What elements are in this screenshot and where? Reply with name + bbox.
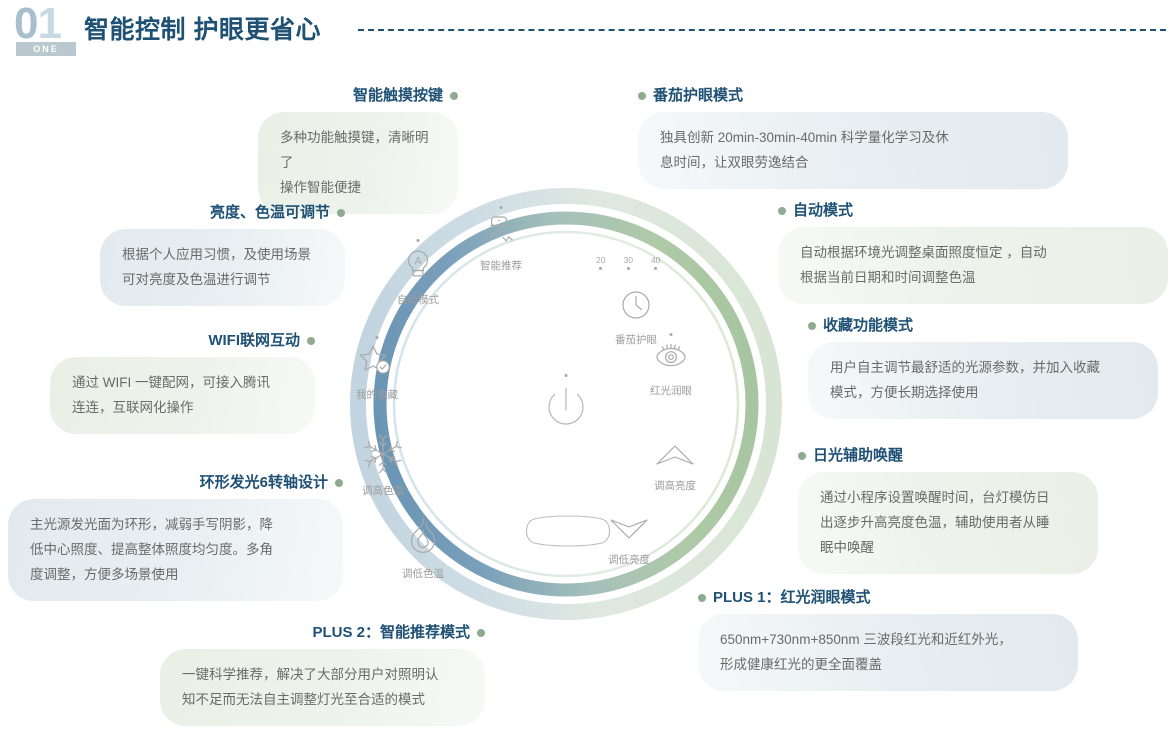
chevron-up-icon [654, 442, 696, 473]
callout-title-row: 自动模式 [778, 203, 1168, 218]
callout-title: 番茄护眼模式 [653, 88, 743, 103]
pomodoro-duration-ticks: 20 30 40 [596, 256, 660, 270]
bullet-dot-icon [808, 322, 816, 330]
callout-body: 主光源发光面为环形，减弱手写阴影，降 低中心照度、提高整体照度均匀度。多角 度调… [8, 499, 343, 601]
page-header: 01 ONE 智能控制 护眼更省心 [0, 0, 1175, 62]
callout-title-row: 智能触摸按键 [258, 88, 458, 103]
callout-title: 自动模式 [793, 203, 853, 218]
slide-canvas: 01 ONE 智能控制 护眼更省心 [0, 0, 1175, 738]
callout-pomodoro-eyecare-mode: 番茄护眼模式 独具创新 20min-30min-40min 科学量化学习及休 息… [638, 88, 1068, 189]
power-button[interactable] [536, 382, 596, 443]
control-auto-mode[interactable]: A 自动模式 [397, 246, 439, 307]
control-pomodoro-eyecare[interactable]: 番茄护眼 [615, 288, 657, 347]
callout-title: 日光辅助唤醒 [813, 448, 903, 463]
bullet-dot-icon [335, 479, 343, 487]
callout-title-row: 番茄护眼模式 [638, 88, 1068, 103]
callout-title: WIFI联网互动 [208, 333, 300, 348]
flame-icon [404, 516, 442, 561]
callout-title: 智能触摸按键 [353, 88, 443, 103]
bullet-dot-icon [638, 92, 646, 100]
callout-title-row: 亮度、色温可调节 [100, 205, 345, 220]
snowflake-icon [364, 435, 402, 478]
logo-subtitle-text: ONE [33, 44, 59, 54]
callout-body: 根据个人应用习惯，及使用场景 可对亮度及色温进行调节 [100, 229, 345, 306]
control-label: 红光润眼 [650, 383, 692, 398]
power-icon [536, 382, 596, 443]
callout-body: 多种功能触摸键，清晰明了 操作智能便捷 [258, 112, 458, 214]
callout-title-row: 收藏功能模式 [808, 318, 1158, 333]
bullet-dot-icon [307, 337, 315, 345]
callout-ring-light-6axis: 环形发光6转轴设计 主光源发光面为环形，减弱手写阴影，降 低中心照度、提高整体照… [8, 475, 343, 601]
control-label: 调低色温 [402, 566, 444, 581]
control-color-temp-down[interactable]: 调低色温 [402, 516, 444, 581]
logo-subtitle-bar: ONE [16, 42, 76, 56]
control-red-light-eyecare[interactable]: 红光润眼 [650, 341, 692, 398]
callout-title-row: PLUS 1：红光润眼模式 [698, 590, 1078, 605]
control-color-temp-up[interactable]: 调高色温 [362, 435, 404, 498]
control-my-favorites[interactable]: 我的收藏 [356, 343, 398, 402]
bullet-dot-icon [477, 629, 485, 637]
tick-label: 40 [651, 256, 660, 265]
bulb-a-icon: A [400, 246, 436, 287]
callout-title: PLUS 2：智能推荐模式 [312, 625, 470, 640]
callout-title: 环形发光6转轴设计 [200, 475, 328, 490]
bullet-dot-icon [778, 207, 786, 215]
svg-text:A: A [414, 256, 422, 268]
callout-plus1-red-light-mode: PLUS 1：红光润眼模式 650nm+730nm+850nm 三波段红光和近红… [698, 590, 1078, 691]
tick-dot [654, 267, 657, 270]
control-brightness-up[interactable]: 调高亮度 [654, 442, 696, 493]
control-label: 调低亮度 [608, 552, 650, 567]
callout-title-row: WIFI联网互动 [50, 333, 315, 348]
tick-dot [599, 267, 602, 270]
callout-title-row: PLUS 2：智能推荐模式 [160, 625, 485, 640]
clock-icon [619, 288, 653, 327]
callout-body: 用户自主调节最舒适的光源参数，并加入收藏 模式，方便长期选择使用 [808, 342, 1158, 419]
callout-body: 通过小程序设置唤醒时间，台灯模仿日 出逐步升高亮度色温，辅助使用者从睡 眠中唤醒 [798, 472, 1098, 574]
logo-digit-0: 0 [14, 0, 37, 48]
tick-label: 20 [596, 256, 605, 265]
section-number-logo: 01 ONE [14, 6, 80, 54]
control-label: 我的收藏 [356, 387, 398, 402]
pomodoro-tick-30[interactable]: 30 [623, 256, 632, 270]
page-title: 智能控制 护眼更省心 [84, 10, 321, 46]
bullet-dot-icon [698, 594, 706, 602]
light-bar [520, 514, 616, 553]
star-check-icon [357, 343, 397, 382]
callout-daylight-wake-assist: 日光辅助唤醒 通过小程序设置唤醒时间，台灯模仿日 出逐步升高亮度色温，辅助使用者… [798, 448, 1098, 574]
control-smart-recommend[interactable]: 智能推荐 [480, 214, 522, 273]
lamp-control-panel: A 自动模式 智能推荐 20 30 40 [340, 178, 792, 630]
callout-title-row: 日光辅助唤醒 [798, 448, 1098, 463]
bullet-dot-icon [450, 92, 458, 100]
logo-digit-1: 1 [37, 0, 60, 48]
bullet-dot-icon [798, 452, 806, 460]
callout-body: 一键科学推荐，解决了大部分用户对照明认 知不足而无法自主调整灯光至合适的模式 [160, 649, 485, 726]
callout-body: 通过 WIFI 一键配网，可接入腾讯 连连，互联网化操作 [50, 357, 315, 434]
callout-wifi-interaction: WIFI联网互动 通过 WIFI 一键配网，可接入腾讯 连连，互联网化操作 [50, 333, 315, 434]
control-label: 自动模式 [397, 292, 439, 307]
callout-title-row: 环形发光6转轴设计 [8, 475, 343, 490]
control-label: 调高亮度 [654, 478, 696, 493]
person-chart-icon [481, 214, 521, 253]
callout-plus2-smart-recommend: PLUS 2：智能推荐模式 一键科学推荐，解决了大部分用户对照明认 知不足而无法… [160, 625, 485, 726]
tick-dot [627, 267, 630, 270]
callout-touch-keys: 智能触摸按键 多种功能触摸键，清晰明了 操作智能便捷 [258, 88, 458, 214]
control-label: 智能推荐 [480, 258, 522, 273]
callout-title: 亮度、色温可调节 [210, 205, 330, 220]
callout-favorites-mode: 收藏功能模式 用户自主调节最舒适的光源参数，并加入收藏 模式，方便长期选择使用 [808, 318, 1158, 419]
callout-body: 独具创新 20min-30min-40min 科学量化学习及休 息时间，让双眼劳… [638, 112, 1068, 189]
callout-brightness-colortemp: 亮度、色温可调节 根据个人应用习惯，及使用场景 可对亮度及色温进行调节 [100, 205, 345, 306]
bullet-dot-icon [337, 209, 345, 217]
pomodoro-tick-20[interactable]: 20 [596, 256, 605, 270]
header-dashed-rule [358, 29, 1166, 31]
tick-label: 30 [623, 256, 632, 265]
callout-title: PLUS 1：红光润眼模式 [713, 590, 871, 605]
callout-body: 650nm+730nm+850nm 三波段红光和近红外光， 形成健康红光的更全面… [698, 614, 1078, 691]
callout-title: 收藏功能模式 [823, 318, 913, 333]
logo-number: 01 [14, 2, 61, 46]
callout-body: 自动根据环境光调整桌面照度恒定 ，自动 根据当前日期和时间调整色温 [778, 227, 1168, 304]
callout-auto-mode: 自动模式 自动根据环境光调整桌面照度恒定 ，自动 根据当前日期和时间调整色温 [778, 203, 1168, 304]
eye-icon [651, 341, 691, 378]
control-label: 调高色温 [362, 483, 404, 498]
pomodoro-tick-40[interactable]: 40 [651, 256, 660, 270]
